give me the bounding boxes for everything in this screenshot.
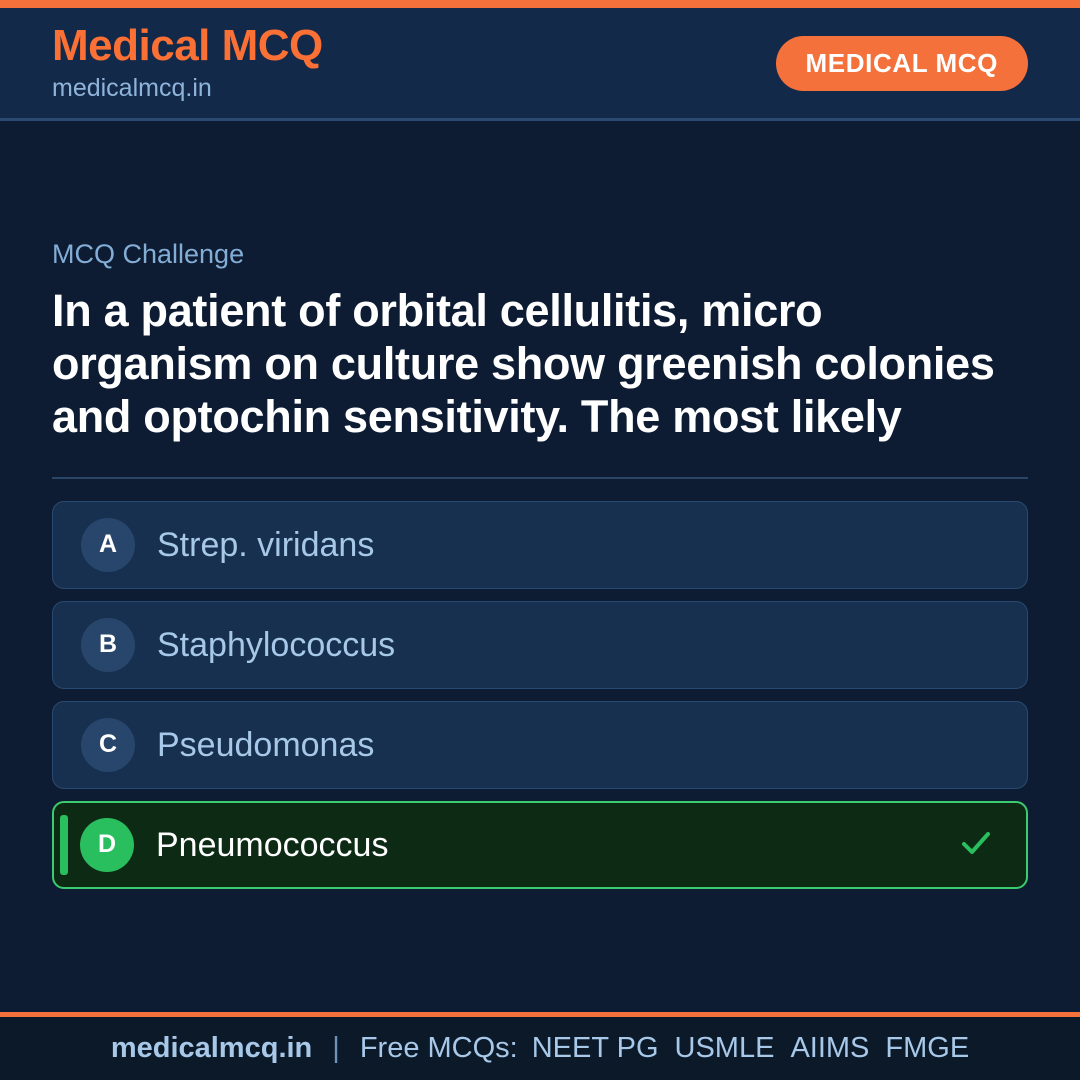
correct-accent-bar	[60, 815, 68, 875]
check-icon	[956, 823, 996, 867]
option-letter-badge: C	[81, 718, 135, 772]
footer-exam-list: NEET PG USMLE AIIMS FMGE	[532, 1032, 969, 1065]
options-list: A Strep. viridans B Staphylococcus C Pse…	[52, 501, 1028, 889]
option-label: Pneumococcus	[156, 828, 388, 862]
option-letter-badge: A	[81, 518, 135, 572]
footer-label: Free MCQs:	[360, 1032, 518, 1065]
option-c[interactable]: C Pseudomonas	[52, 701, 1028, 789]
option-label: Staphylococcus	[157, 628, 395, 662]
footer-site: medicalmcq.in	[111, 1032, 312, 1065]
section-divider	[52, 477, 1028, 479]
brand-title: Medical MCQ	[52, 23, 323, 69]
page-footer: medicalmcq.in | Free MCQs: NEET PG USMLE…	[0, 1012, 1080, 1080]
main-content: MCQ Challenge In a patient of orbital ce…	[0, 121, 1080, 1012]
option-label: Strep. viridans	[157, 528, 374, 562]
option-label: Pseudomonas	[157, 728, 374, 762]
option-d[interactable]: D Pneumococcus	[52, 801, 1028, 889]
option-a[interactable]: A Strep. viridans	[52, 501, 1028, 589]
option-letter-badge: D	[80, 818, 134, 872]
footer-separator: |	[326, 1032, 346, 1065]
footer-exam-item: AIIMS	[790, 1032, 869, 1065]
page-header: Medical MCQ medicalmcq.in MEDICAL MCQ	[0, 8, 1080, 121]
option-b[interactable]: B Staphylococcus	[52, 601, 1028, 689]
header-badge: MEDICAL MCQ	[776, 36, 1028, 91]
footer-exam-item: NEET PG	[532, 1032, 659, 1065]
footer-exam-item: USMLE	[675, 1032, 775, 1065]
footer-exam-item: FMGE	[885, 1032, 969, 1065]
footer-content: medicalmcq.in | Free MCQs: NEET PG USMLE…	[111, 1032, 969, 1065]
eyebrow-label: MCQ Challenge	[52, 121, 1028, 270]
option-letter-badge: B	[81, 618, 135, 672]
top-accent-bar	[0, 0, 1080, 8]
brand-block: Medical MCQ medicalmcq.in	[52, 23, 323, 102]
question-text: In a patient of orbital cellulitis, micr…	[52, 284, 1028, 443]
brand-subtitle: medicalmcq.in	[52, 73, 323, 103]
